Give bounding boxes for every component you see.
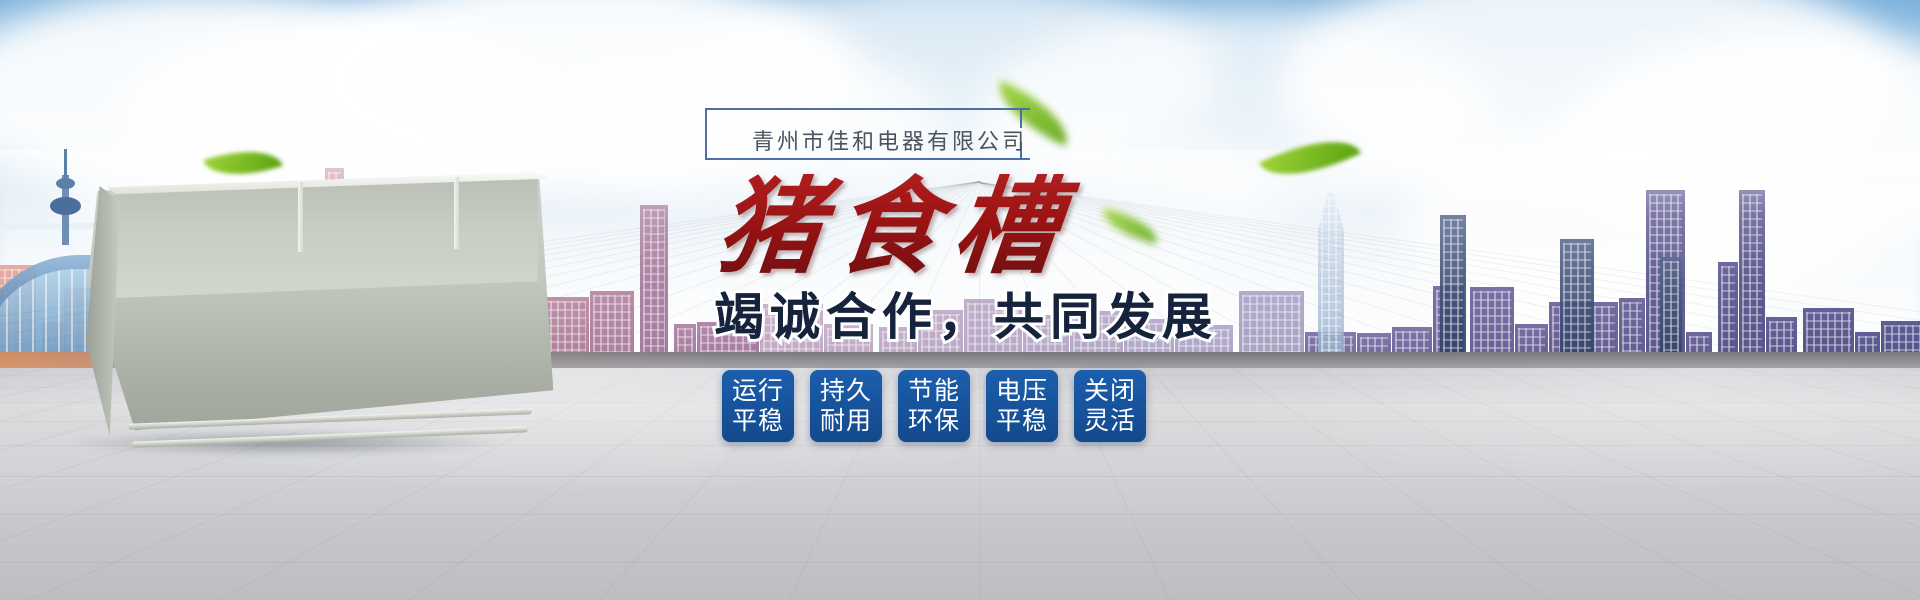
- feature-badge-line1: 持久: [820, 376, 872, 406]
- feature-badge-line1: 运行: [732, 376, 784, 406]
- feature-badge-line2: 灵活: [1084, 406, 1136, 436]
- feature-badge-5[interactable]: 关闭灵活: [1074, 370, 1146, 442]
- feature-badge-2[interactable]: 持久耐用: [810, 370, 882, 442]
- feature-badge-line1: 节能: [908, 376, 960, 406]
- feature-badge-line1: 关闭: [1084, 376, 1136, 406]
- banner-copy: 青州市佳和电器有限公司 猪食槽 猪食槽 竭诚合作，共同发展 竭诚合作，共同发展 …: [0, 0, 1920, 600]
- feature-badge-3[interactable]: 节能环保: [898, 370, 970, 442]
- feature-badge-line2: 耐用: [820, 406, 872, 436]
- feature-badge-line2: 平稳: [996, 406, 1048, 436]
- promo-banner: 青州市佳和电器有限公司 猪食槽 猪食槽 竭诚合作，共同发展 竭诚合作，共同发展 …: [0, 0, 1920, 600]
- main-title: 猪食槽: [712, 168, 1285, 288]
- feature-badge-1[interactable]: 运行平稳: [722, 370, 794, 442]
- feature-badge-line1: 电压: [996, 376, 1048, 406]
- feature-badge-line2: 环保: [908, 406, 960, 436]
- company-name: 青州市佳和电器有限公司: [752, 124, 1027, 156]
- feature-badge-line2: 平稳: [732, 406, 784, 436]
- subtitle: 竭诚合作，共同发展: [714, 288, 1218, 346]
- feature-badge-4[interactable]: 电压平稳: [986, 370, 1058, 442]
- feature-badge-row: 运行平稳持久耐用节能环保电压平稳关闭灵活: [722, 370, 1146, 442]
